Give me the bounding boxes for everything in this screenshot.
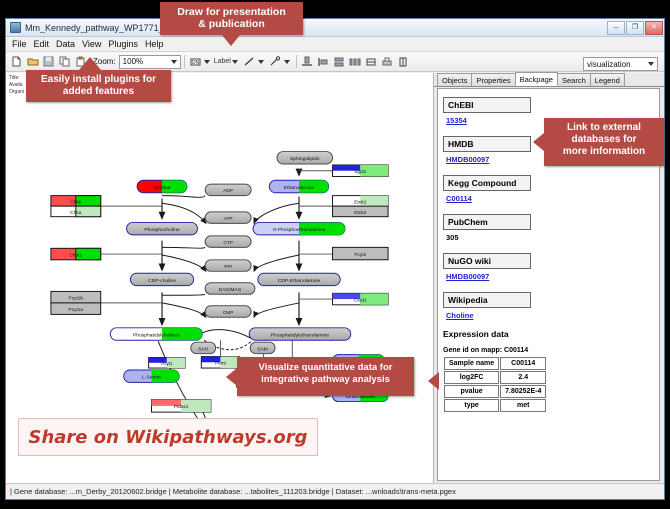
interaction-dropdown[interactable] bbox=[268, 54, 293, 69]
menu-plugins[interactable]: Plugins bbox=[106, 39, 143, 49]
callout-plugins-line2: added features bbox=[26, 86, 171, 98]
zoom-value: 100% bbox=[123, 57, 171, 66]
node-cdp-choline[interactable]: CDP-choline bbox=[130, 273, 193, 285]
svg-text:Pcyt1a: Pcyt1a bbox=[69, 307, 84, 313]
svg-text:Chkb: Chkb bbox=[70, 199, 81, 205]
svg-text:Sgpl1: Sgpl1 bbox=[354, 169, 367, 175]
svg-text:O-Phosphoethanolamine: O-Phosphoethanolamine bbox=[273, 227, 326, 233]
node-pcyt2[interactable]: Pcyt2 bbox=[333, 247, 389, 259]
table-row: pvalue 7.80252E-4 bbox=[444, 385, 546, 398]
callout-draw-line1: Draw for presentation bbox=[160, 6, 303, 18]
svg-text:CDP-Ethanolamine: CDP-Ethanolamine bbox=[278, 278, 321, 284]
node-chkb[interactable]: Chkb bbox=[51, 196, 101, 207]
toolbar-separator bbox=[184, 55, 185, 68]
save-icon[interactable] bbox=[41, 54, 56, 69]
svg-text:Ptdss1: Ptdss1 bbox=[174, 404, 189, 410]
svg-text:Pcyt1: Pcyt1 bbox=[161, 361, 173, 366]
datanode-dropdown[interactable]: DN bbox=[188, 54, 213, 69]
menu-view[interactable]: View bbox=[80, 39, 106, 49]
svg-text:CDP-choline: CDP-choline bbox=[148, 278, 176, 284]
node-cdp-ethanolamine[interactable]: CDP-Ethanolamine bbox=[258, 273, 340, 285]
svg-text:L-Serine: L-Serine bbox=[142, 375, 161, 381]
close-button[interactable]: ✕ bbox=[645, 21, 663, 35]
tab-backpage[interactable]: Backpage bbox=[515, 72, 558, 86]
svg-text:Cept1: Cept1 bbox=[354, 297, 367, 303]
line-dropdown[interactable] bbox=[242, 54, 267, 69]
callout-plugins: Easily install plugins for added feature… bbox=[26, 70, 171, 102]
wikipedia-link[interactable]: Choline bbox=[446, 311, 654, 320]
align-top-icon[interactable] bbox=[300, 54, 315, 69]
kegg-header: Kegg Compound bbox=[443, 175, 531, 191]
svg-text:SAH: SAH bbox=[198, 346, 208, 352]
callout-visualize-arrow-right-icon bbox=[428, 372, 439, 390]
callout-draw-line2: & publication bbox=[160, 18, 303, 30]
callout-links-arrow-icon bbox=[533, 133, 544, 151]
stack-vertical-icon[interactable] bbox=[332, 54, 347, 69]
node-dagmag[interactable]: DAG/MAG bbox=[205, 283, 255, 294]
svg-text:DN: DN bbox=[192, 60, 200, 66]
node-adp[interactable]: ADP bbox=[205, 184, 251, 195]
node-ethanolamine[interactable]: Ethanolamine bbox=[269, 180, 328, 192]
row-key: type bbox=[444, 399, 499, 412]
svg-text:ADP: ADP bbox=[223, 188, 233, 194]
node-chpt1[interactable]: Chpt1 bbox=[51, 248, 101, 259]
chevron-down-icon bbox=[284, 60, 290, 64]
tab-legend[interactable]: Legend bbox=[590, 73, 625, 86]
chevron-down-icon bbox=[171, 60, 177, 64]
node-cept1[interactable]: Cept1 bbox=[333, 293, 389, 304]
svg-text:DAG/MAG: DAG/MAG bbox=[219, 287, 242, 293]
callout-visualize-arrow-icon bbox=[226, 368, 237, 386]
copy-icon[interactable] bbox=[57, 54, 72, 69]
svg-text:Pcyt1b: Pcyt1b bbox=[69, 296, 84, 302]
node-etnk1[interactable]: Etnk1 bbox=[333, 196, 389, 207]
hmdb-header: HMDB bbox=[443, 136, 531, 152]
node-ptdss1[interactable]: Ptdss1 bbox=[151, 400, 210, 412]
app-icon bbox=[10, 22, 21, 33]
share-banner: Share on Wikipathways.org bbox=[18, 418, 318, 456]
node-atp[interactable]: ATP bbox=[205, 212, 251, 223]
node-etnk2[interactable]: Etnk2 bbox=[333, 206, 389, 217]
nugo-header: NuGO wiki bbox=[443, 253, 531, 269]
node-pcyt1[interactable]: Pcyt1 bbox=[149, 358, 185, 369]
row-key: pvalue bbox=[444, 385, 499, 398]
label-tool-label: Label bbox=[214, 58, 231, 65]
svg-text:PPi: PPi bbox=[224, 264, 231, 270]
table-row: Sample name C00114 bbox=[444, 357, 546, 370]
chevron-down-icon bbox=[258, 60, 264, 64]
toolbar: Zoom: 100% DN Label bbox=[6, 52, 664, 72]
distribute-horizontal-icon[interactable] bbox=[348, 54, 363, 69]
callout-draw-arrow-icon bbox=[222, 35, 240, 46]
callout-links-line1: Link to external bbox=[544, 122, 664, 134]
svg-text:CMP: CMP bbox=[223, 310, 234, 316]
pubchem-value: 305 bbox=[446, 233, 654, 242]
tab-properties[interactable]: Properties bbox=[471, 73, 515, 86]
svg-text:Sphingolipids: Sphingolipids bbox=[290, 156, 320, 162]
node-pcyt1a[interactable]: Pcyt1a bbox=[51, 303, 101, 314]
wikipedia-header: Wikipedia bbox=[443, 292, 531, 308]
callout-links: Link to external databases for more info… bbox=[544, 118, 664, 166]
node-sphingolipids[interactable]: Sphingolipids bbox=[277, 152, 333, 164]
svg-text:Choline: Choline bbox=[154, 185, 171, 191]
print-icon[interactable] bbox=[380, 54, 395, 69]
toolbar-separator bbox=[296, 55, 297, 68]
callout-visualize-line1: Visualize quantitative data for bbox=[237, 362, 414, 374]
pubchem-header: PubChem bbox=[443, 214, 531, 230]
line-icon[interactable] bbox=[242, 54, 257, 69]
row-value: 7.80252E-4 bbox=[500, 385, 546, 398]
menu-edit[interactable]: Edit bbox=[32, 39, 55, 49]
table-row: type met bbox=[444, 399, 546, 412]
svg-text:Phosphatidylethanolamine: Phosphatidylethanolamine bbox=[271, 332, 330, 338]
menubar: File Edit Data View Plugins Help bbox=[6, 37, 664, 52]
node-choline-top[interactable]: Choline bbox=[137, 180, 187, 192]
node-l-serine-left[interactable]: L-Serine bbox=[124, 370, 180, 382]
menu-file[interactable]: File bbox=[10, 39, 32, 49]
svg-text:Phosphatidylcholines: Phosphatidylcholines bbox=[133, 332, 180, 338]
chevron-down-icon bbox=[204, 60, 210, 64]
svg-text:CTP: CTP bbox=[223, 240, 233, 246]
svg-text:Pemt: Pemt bbox=[215, 361, 226, 366]
svg-text:SAM: SAM bbox=[257, 346, 267, 352]
menu-help[interactable]: Help bbox=[143, 39, 169, 49]
chevron-down-icon bbox=[232, 60, 238, 64]
common-width-icon[interactable] bbox=[364, 54, 379, 69]
row-key: Sample name bbox=[444, 357, 499, 370]
node-phosphatidylethanolamine[interactable]: Phosphatidylethanolamine bbox=[249, 328, 351, 340]
sidebar-tabstrip: Objects Properties Backpage Search Legen… bbox=[434, 73, 664, 87]
callout-plugins-arrow-icon bbox=[79, 57, 101, 70]
svg-text:Phosphocholine: Phosphocholine bbox=[144, 227, 180, 233]
node-sah[interactable]: SAH bbox=[191, 342, 216, 353]
svg-text:Etnk2: Etnk2 bbox=[354, 210, 367, 216]
new-file-icon[interactable] bbox=[9, 54, 24, 69]
table-row: log2FC 2.4 bbox=[444, 371, 546, 384]
open-folder-icon[interactable] bbox=[25, 54, 40, 69]
svg-text:Ethanolamine: Ethanolamine bbox=[284, 185, 315, 191]
expression-table: Sample name C00114 log2FC 2.4 pvalue 7.8… bbox=[443, 356, 547, 413]
datanode-icon[interactable]: DN bbox=[188, 54, 203, 69]
maximize-button[interactable]: ❐ bbox=[626, 21, 644, 35]
statusbar: | Gene database: ...m_Derby_20120602.bri… bbox=[6, 483, 664, 499]
node-pcyt1b[interactable]: Pcyt1b bbox=[51, 291, 101, 302]
kegg-link[interactable]: C00114 bbox=[446, 194, 654, 203]
svg-text:Chpt1: Chpt1 bbox=[69, 252, 82, 258]
node-chka[interactable]: Chka bbox=[51, 206, 101, 217]
common-height-icon[interactable] bbox=[396, 54, 411, 69]
callout-plugins-line1: Easily install plugins for bbox=[26, 74, 171, 86]
window-titlebar: Mm_Kennedy_pathway_WP1771_45176.gpml – ❐… bbox=[6, 19, 664, 37]
node-o-phosphoethanolamine[interactable]: O-Phosphoethanolamine bbox=[253, 222, 345, 234]
callout-links-line3: more information bbox=[544, 146, 664, 158]
callout-visualize-line2: integrative pathway analysis bbox=[237, 374, 414, 386]
chevron-down-icon bbox=[648, 62, 654, 66]
svg-text:Etnk1: Etnk1 bbox=[354, 199, 367, 205]
tab-objects[interactable]: Objects bbox=[437, 73, 472, 86]
label-dropdown[interactable]: Label bbox=[214, 58, 241, 65]
node-phosphocholine[interactable]: Phosphocholine bbox=[127, 222, 198, 234]
nugo-link[interactable]: HMDB00097 bbox=[446, 272, 654, 281]
svg-text:Pcyt2: Pcyt2 bbox=[354, 252, 366, 258]
menu-data[interactable]: Data bbox=[54, 39, 80, 49]
chebi-header: ChEBI bbox=[443, 97, 531, 113]
screenshot-root: Mm_Kennedy_pathway_WP1771_45176.gpml – ❐… bbox=[0, 0, 670, 509]
statusbar-text: | Gene database: ...m_Derby_20120602.bri… bbox=[10, 487, 456, 496]
zoom-combobox[interactable]: 100% bbox=[119, 55, 181, 69]
node-ctp[interactable]: CTP bbox=[205, 236, 251, 247]
align-left-icon[interactable] bbox=[316, 54, 331, 69]
expression-data-header: Expression data bbox=[443, 329, 654, 339]
interaction-icon[interactable] bbox=[268, 54, 283, 69]
svg-text:Chka: Chka bbox=[70, 210, 81, 216]
row-value: 2.4 bbox=[500, 371, 546, 384]
svg-text:ATP: ATP bbox=[224, 216, 233, 222]
visualization-value: visualization bbox=[587, 60, 648, 69]
node-pemt[interactable]: Pemt bbox=[201, 357, 239, 368]
node-phosphatidylcholines[interactable]: Phosphatidylcholines bbox=[110, 328, 202, 340]
minimize-button[interactable]: – bbox=[607, 21, 625, 35]
node-ppi[interactable]: PPi bbox=[205, 260, 251, 271]
row-value: met bbox=[500, 399, 546, 412]
node-sgpl1[interactable]: Sgpl1 bbox=[333, 165, 389, 176]
callout-draw: Draw for presentation & publication bbox=[160, 2, 303, 35]
row-key: log2FC bbox=[444, 371, 499, 384]
tab-search[interactable]: Search bbox=[557, 73, 591, 86]
node-sam[interactable]: SAM bbox=[250, 342, 275, 353]
callout-links-line2: databases for bbox=[544, 134, 664, 146]
visualization-combobox[interactable]: visualization bbox=[583, 57, 658, 71]
window-controls: – ❐ ✕ bbox=[607, 21, 664, 35]
node-cmp[interactable]: CMP bbox=[205, 306, 251, 317]
gene-id-line: Gene id on mapp: C00114 bbox=[443, 347, 654, 354]
row-value: C00114 bbox=[500, 357, 546, 370]
callout-visualize: Visualize quantitative data for integrat… bbox=[237, 357, 414, 396]
